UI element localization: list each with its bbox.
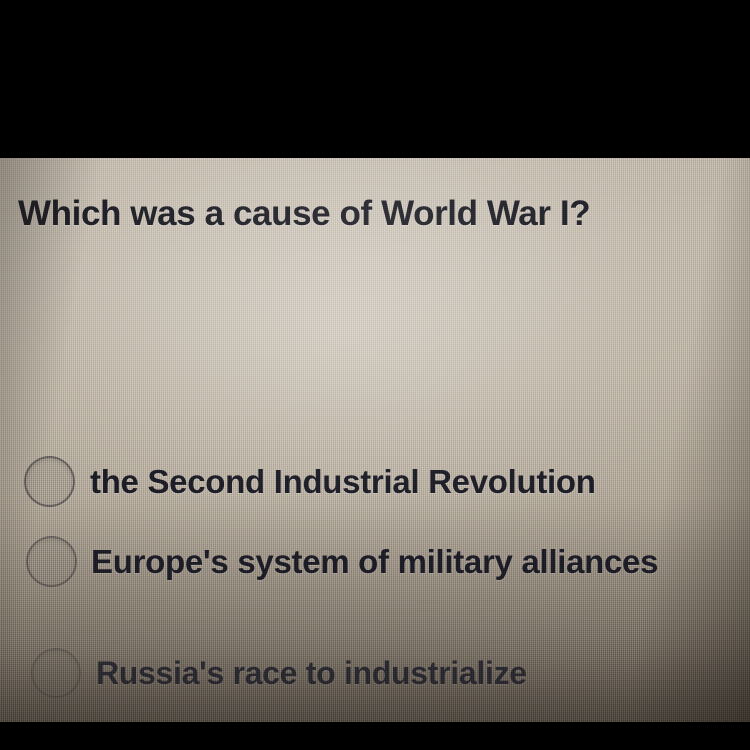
letterbox-bar-bottom xyxy=(0,722,750,750)
letterbox-bar-top xyxy=(0,0,750,158)
answer-option-1[interactable]: the Second Industrial Revolution xyxy=(0,456,596,507)
answer-option-1-label: the Second Industrial Revolution xyxy=(90,463,596,501)
radio-unchecked-icon[interactable] xyxy=(24,456,75,507)
quiz-content: Which was a cause of World War I? the Se… xyxy=(0,158,750,722)
radio-unchecked-icon[interactable] xyxy=(31,648,81,698)
answer-option-2-label: Europe's system of military alliances xyxy=(91,543,658,581)
radio-unchecked-icon[interactable] xyxy=(26,536,77,587)
answer-option-3-label: Russia's race to industrialize xyxy=(96,655,527,692)
quiz-screen: Which was a cause of World War I? the Se… xyxy=(0,158,750,722)
answer-option-3[interactable]: Russia's race to industrialize xyxy=(0,648,527,698)
answer-option-2[interactable]: Europe's system of military alliances xyxy=(0,536,658,587)
photographed-screen-container: Which was a cause of World War I? the Se… xyxy=(0,0,750,750)
question-text: Which was a cause of World War I? xyxy=(18,194,590,234)
